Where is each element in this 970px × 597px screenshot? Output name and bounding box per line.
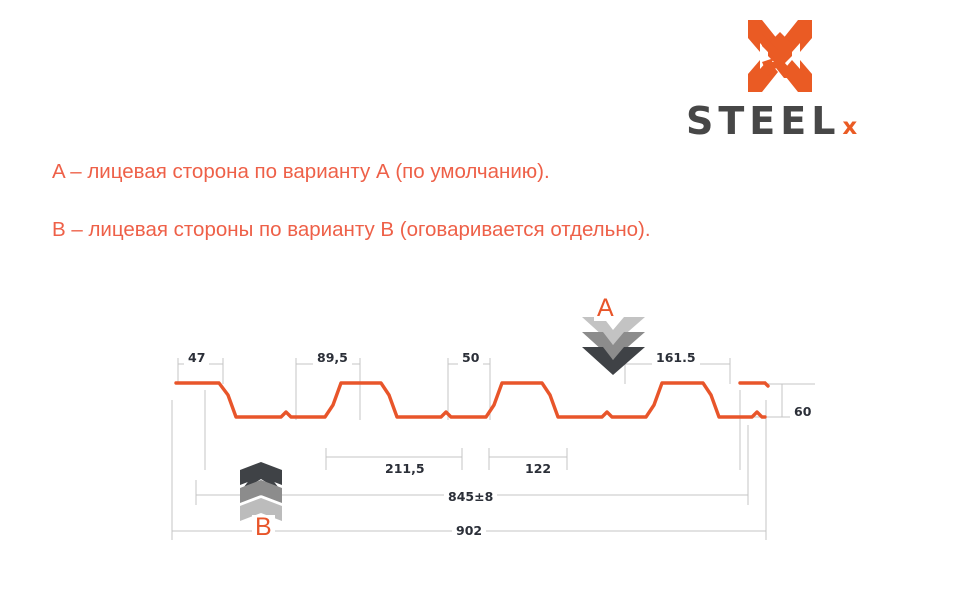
profile-technical-drawing [0, 0, 970, 597]
dim-label-47: 47 [184, 350, 209, 365]
dim-label-89-5: 89,5 [313, 350, 352, 365]
dim-label-161-5: 161.5 [652, 350, 700, 365]
dim-label-60: 60 [790, 404, 815, 419]
marker-a-chevrons-icon [582, 317, 645, 375]
profile-right-tail [740, 383, 768, 386]
dim-label-211-5: 211,5 [381, 461, 429, 476]
dim-label-50: 50 [458, 350, 483, 365]
corrugated-profile-path [176, 383, 765, 417]
dim-label-902: 902 [452, 523, 486, 538]
marker-letter-b: B [252, 515, 275, 540]
dim-label-845: 845±8 [444, 489, 497, 504]
dim-label-122: 122 [521, 461, 555, 476]
marker-letter-a: A [594, 296, 617, 321]
